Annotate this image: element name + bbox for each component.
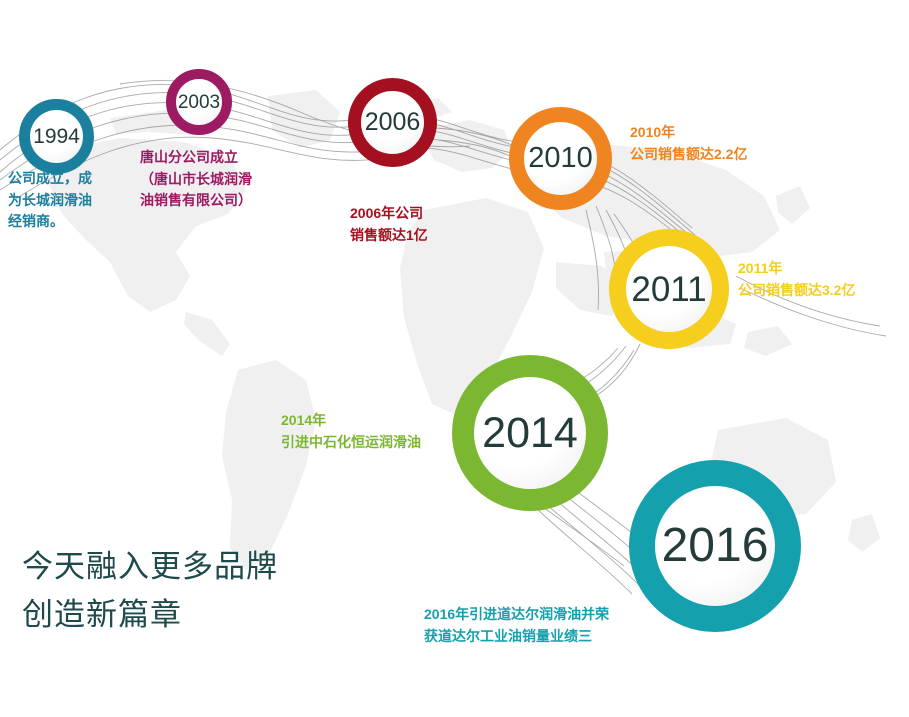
caption-2003-line-2: （唐山市长城润滑 [140,169,252,191]
headline: 今天融入更多品牌 创造新篇章 [22,543,278,639]
milestone-node-2016[interactable]: 2016 [629,460,801,632]
year-label-1994: 1994 [33,126,80,147]
caption-2016-line-1: 2016年引进道达尔润滑油并荣 [424,604,609,626]
ring-1994: 1994 [19,99,94,174]
caption-2010-line-2: 公司销售额达2.2亿 [630,144,747,166]
headline-line-1: 今天融入更多品牌 [22,543,278,591]
caption-2011-line-2: 公司销售额达3.2亿 [738,280,855,302]
year-label-2010: 2010 [528,144,593,173]
milestone-node-2011[interactable]: 2011 [609,229,729,349]
caption-2016: 2016年引进道达尔润滑油并荣 获道达尔工业油销量业绩三 [424,604,609,647]
caption-1994-line-2: 为长城润滑油 [8,190,92,212]
year-label-2014: 2014 [482,412,578,455]
year-label-2011: 2011 [631,272,706,307]
year-label-2006: 2006 [365,110,421,135]
caption-2006-line-1: 2006年公司 [350,203,428,225]
headline-line-2: 创造新篇章 [22,591,278,639]
ring-2006: 2006 [348,78,437,167]
milestone-node-2003[interactable]: 2003 [166,69,232,135]
ring-2014: 2014 [452,355,608,511]
ring-2011: 2011 [609,229,729,349]
caption-2003-line-3: 油销售有限公司） [140,190,252,212]
caption-1994-line-1: 公司成立，成 [8,168,92,190]
caption-2014-line-2: 引进中石化恒运润滑油 [281,432,421,454]
caption-2003-line-1: 唐山分公司成立 [140,147,252,169]
year-label-2003: 2003 [178,93,220,112]
caption-2010-line-1: 2010年 [630,122,747,144]
caption-2003: 唐山分公司成立 （唐山市长城润滑 油销售有限公司） [140,147,252,212]
caption-2010: 2010年 公司销售额达2.2亿 [630,122,747,165]
milestone-node-2014[interactable]: 2014 [452,355,608,511]
caption-2006: 2006年公司 销售额达1亿 [350,203,428,246]
caption-2016-line-2: 获道达尔工业油销量业绩三 [424,626,609,648]
milestone-node-2010[interactable]: 2010 [509,107,612,210]
ring-2003: 2003 [166,69,232,135]
caption-2011-line-1: 2011年 [738,258,855,280]
caption-2006-line-2: 销售额达1亿 [350,225,428,247]
year-label-2016: 2016 [662,522,769,570]
timeline-infographic: 1994 公司成立，成 为长城润滑油 经销商。 2003 唐山分公司成立 （唐山… [0,0,909,717]
caption-2014: 2014年 引进中石化恒运润滑油 [281,410,421,453]
ring-2010: 2010 [509,107,612,210]
milestone-node-1994[interactable]: 1994 [19,99,94,174]
caption-1994-line-3: 经销商。 [8,211,92,233]
caption-2011: 2011年 公司销售额达3.2亿 [738,258,855,301]
milestone-node-2006[interactable]: 2006 [348,78,437,167]
caption-2014-line-1: 2014年 [281,410,421,432]
caption-1994: 公司成立，成 为长城润滑油 经销商。 [8,168,92,233]
ring-2016: 2016 [629,460,801,632]
